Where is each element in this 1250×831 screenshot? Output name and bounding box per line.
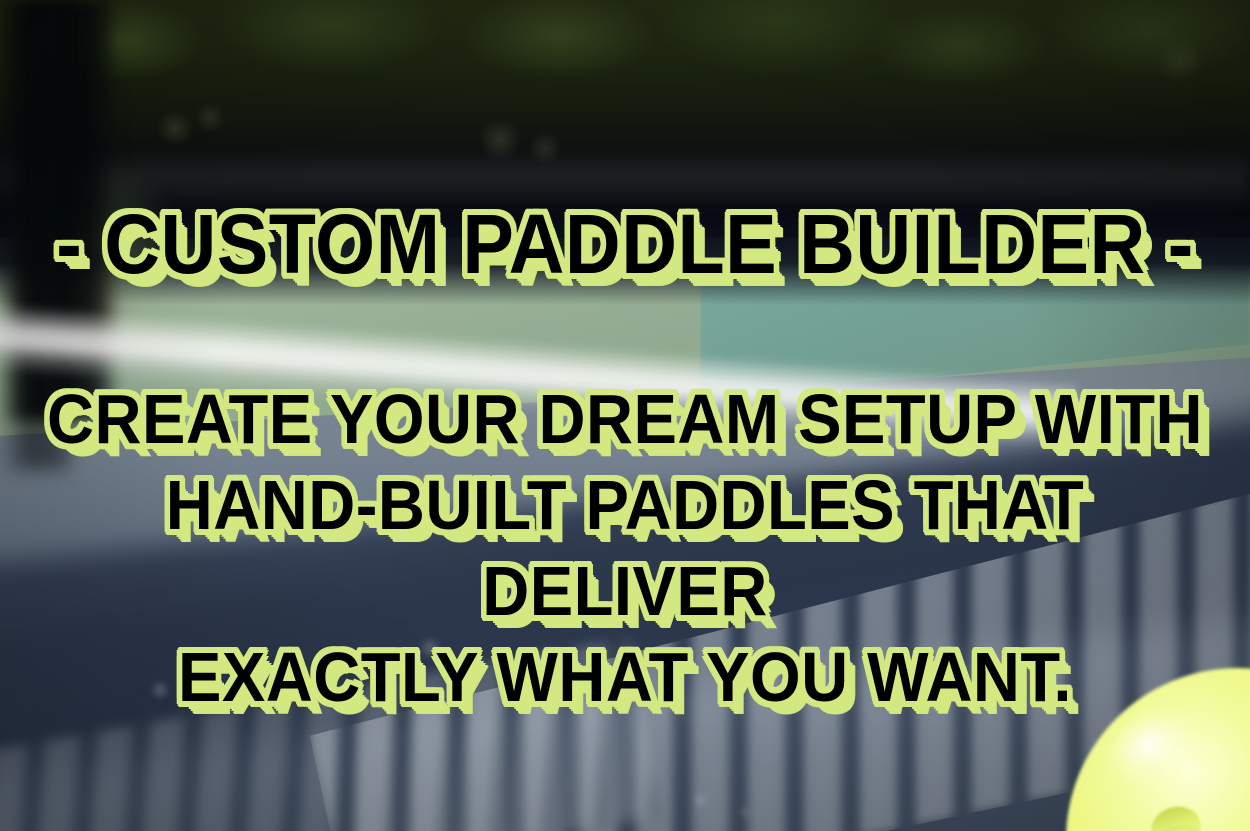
subheading-line-2-text: HAND-BUILT PADDLES THAT DELIVER bbox=[44, 462, 1207, 634]
headline-text: - CUSTOM PADDLE BUILDER - bbox=[56, 196, 1194, 292]
hero-banner: - CUSTOM PADDLE BUILDER - CREATE YOUR DR… bbox=[0, 0, 1250, 831]
subheading-line-3-text: EXACTLY WHAT YOU WANT. bbox=[178, 634, 1072, 720]
subheading-line-3: EXACTLY WHAT YOU WANT. bbox=[44, 634, 1207, 720]
subheading-line-1: CREATE YOUR DREAM SETUP WITH bbox=[44, 376, 1207, 462]
subheading: CREATE YOUR DREAM SETUP WITH HAND-BUILT … bbox=[44, 376, 1207, 720]
subheading-line-1-text: CREATE YOUR DREAM SETUP WITH bbox=[47, 376, 1203, 462]
subheading-line-2: HAND-BUILT PADDLES THAT DELIVER bbox=[44, 462, 1207, 634]
headline: - CUSTOM PADDLE BUILDER - bbox=[50, 196, 1200, 292]
